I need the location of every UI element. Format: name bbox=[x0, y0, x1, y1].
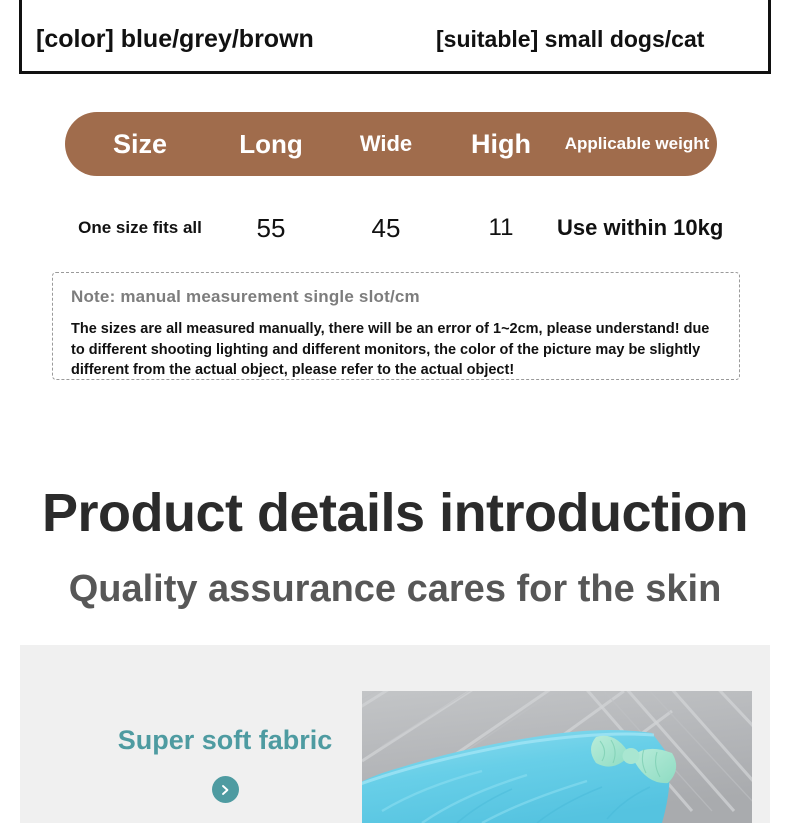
size-table-header-row: Size Long Wide High Applicable weight bbox=[65, 112, 717, 176]
size-header-size: Size bbox=[65, 129, 215, 160]
size-header-high: High bbox=[445, 129, 557, 160]
feature-band: Super soft fabric bbox=[20, 645, 770, 823]
page-subtitle: Quality assurance cares for the skin bbox=[0, 569, 790, 611]
feature-text-column: Super soft fabric bbox=[90, 725, 360, 803]
spec-color-label: [color] blue/grey/brown bbox=[36, 25, 436, 54]
note-title: Note: manual measurement single slot/cm bbox=[71, 287, 721, 307]
spec-suitable-label: [suitable] small dogs/cat bbox=[436, 26, 754, 53]
size-table-row: One size fits all 55 45 11 Use within 10… bbox=[65, 204, 717, 252]
spec-row-cropped: 【材 质】涤纶加绒上层绒面 【品 名】宠物床窝垫睡垫 bbox=[22, 0, 768, 9]
note-box: Note: manual measurement single slot/cm … bbox=[52, 272, 740, 380]
size-header-wide: Wide bbox=[327, 131, 445, 157]
size-value-applicable-weight: Use within 10kg bbox=[557, 215, 717, 241]
size-value-size: One size fits all bbox=[65, 218, 215, 238]
product-photo bbox=[362, 691, 752, 823]
spec-row-main: [color] blue/grey/brown [suitable] small… bbox=[22, 15, 768, 63]
size-value-long: 55 bbox=[215, 213, 327, 244]
feature-title: Super soft fabric bbox=[90, 725, 360, 756]
note-body: The sizes are all measured manually, the… bbox=[71, 319, 721, 381]
chevron-right-icon[interactable] bbox=[212, 776, 239, 803]
size-value-wide: 45 bbox=[327, 213, 445, 244]
size-header-applicable-weight: Applicable weight bbox=[557, 134, 717, 154]
size-table: Size Long Wide High Applicable weight On… bbox=[65, 112, 717, 252]
page-title: Product details introduction bbox=[0, 484, 790, 543]
size-value-high: 11 bbox=[445, 214, 557, 242]
size-header-long: Long bbox=[215, 129, 327, 160]
section-headings: Product details introduction Quality ass… bbox=[0, 484, 790, 611]
specification-box: 【材 质】涤纶加绒上层绒面 【品 名】宠物床窝垫睡垫 [color] blue/… bbox=[19, 0, 771, 74]
